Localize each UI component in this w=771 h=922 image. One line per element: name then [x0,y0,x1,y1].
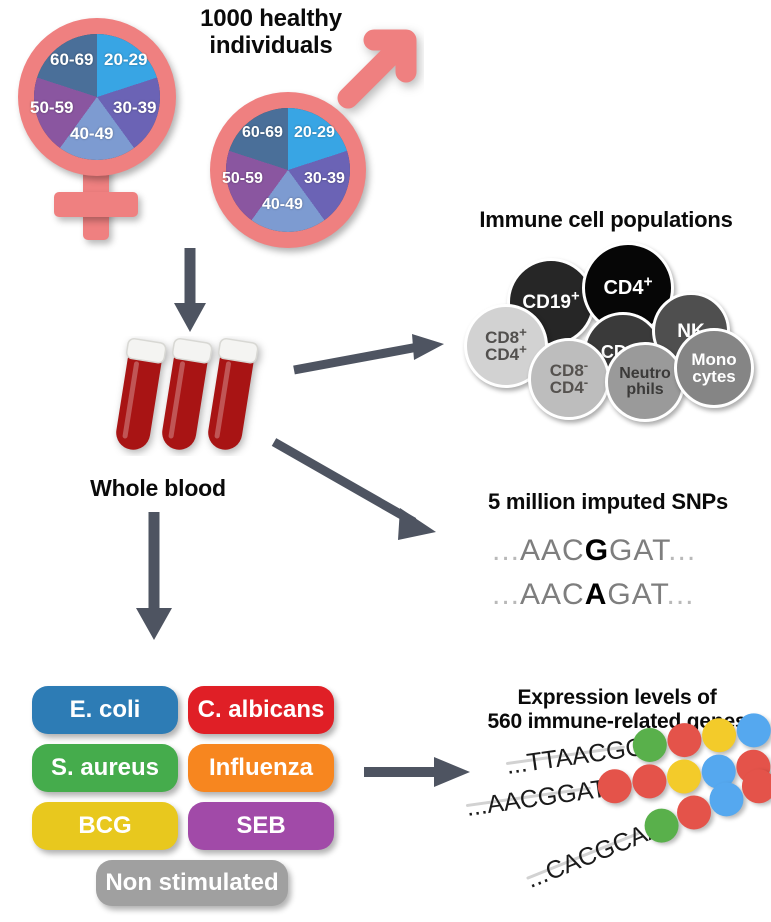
female-gender-symbol: 20-29 30-39 40-49 50-59 60-69 [8,12,198,242]
stimulus-influenza[interactable]: Influenza [188,744,334,792]
gene-strand-1-dot-2 [665,721,703,759]
blood-tubes-svg [96,336,286,456]
figure-canvas: 1000 healthy individuals 20-29 30-39 40-… [0,0,771,922]
pie-label-60-69-male: 60-69 [242,124,283,142]
pie-label-50-59: 50-59 [30,98,73,118]
pie-label-30-39: 30-39 [113,98,156,118]
immune-cell-neutrophils: Neutrophils [605,342,685,422]
gene-strand-2-dot-2 [630,762,668,800]
immune-cell-cd8pos-cd4pos-label: CD8+CD4+ [485,329,527,363]
stimulus-non-stimulated[interactable]: Non stimulated [96,860,288,906]
snp-row-1-suffix: ... [668,534,696,567]
snp-row-1-prefix: ... [492,534,520,567]
arrow-blood-to-snp [272,440,452,550]
page-title-snp: 5 million imputed SNPs [458,490,758,515]
snp-row-1-right: GAT [609,534,668,567]
stimulus-c-albicans[interactable]: C. albicans [188,686,334,734]
female-symbol-crossbar [54,192,138,217]
pie-label-30-39-male: 30-39 [304,170,345,188]
snp-sequence-row-1: ...AACGGAT... [492,534,696,568]
snp-row-1-variant: G [585,534,609,567]
immune-cell-cd4-label: CD4+ [603,278,652,298]
gene-strand-2-sequence: ...AACGGAT [464,775,608,823]
snp-row-2-suffix: ... [667,578,695,611]
pie-label-20-29-male: 20-29 [294,124,335,142]
arrow-stimuli-to-expression [362,752,476,792]
snp-sequence-row-2: ...AACAGAT... [492,578,695,612]
snp-row-2-prefix: ... [492,578,520,611]
immune-cell-cd8neg-cd4neg: CD8-CD4- [528,338,610,420]
male-gender-symbol: 20-29 30-39 40-49 50-59 60-69 [196,20,426,250]
snp-row-2-right: GAT [607,578,666,611]
expression-title-line-1: Expression levels of [466,686,768,710]
arrow-cohort-to-blood [168,248,212,334]
snp-row-2-left: AAC [520,578,585,611]
pie-label-40-49-male: 40-49 [262,196,303,214]
immune-cell-monocytes-label: Monocytes [691,351,736,385]
immune-cell-cluster: CD19+ CD4+ CD8+CD4+ CD8+ NK CD8-CD4- Neu… [460,240,760,420]
gene-strand-2-dot-3 [665,757,703,795]
stimuli-panel: E. coli C. albicans S. aureus Influenza … [32,686,352,896]
pie-label-20-29: 20-29 [104,50,147,70]
stimulus-bcg[interactable]: BCG [32,802,178,850]
pie-label-50-59-male: 50-59 [222,170,263,188]
pie-label-40-49: 40-49 [70,124,113,144]
arrow-blood-to-immune [292,330,452,380]
whole-blood-tubes [96,336,286,456]
immune-cell-cd8neg-cd4neg-label: CD8-CD4- [550,362,588,396]
snp-row-2-variant: A [585,578,608,611]
stimulus-e-coli[interactable]: E. coli [32,686,178,734]
snp-row-1-left: AAC [520,534,585,567]
gene-strand-1-dot-3 [700,716,738,754]
pie-label-60-69: 60-69 [50,50,93,70]
arrow-blood-to-stimuli [132,512,176,642]
immune-cell-monocytes: Monocytes [674,328,754,408]
label-whole-blood: Whole blood [60,476,256,502]
stimulus-seb[interactable]: SEB [188,802,334,850]
stimulus-s-aureus[interactable]: S. aureus [32,744,178,792]
immune-cell-neutrophils-label: Neutrophils [619,366,671,398]
page-title-immune: Immune cell populations [452,208,760,233]
immune-cell-cd19-label: CD19+ [522,293,579,312]
